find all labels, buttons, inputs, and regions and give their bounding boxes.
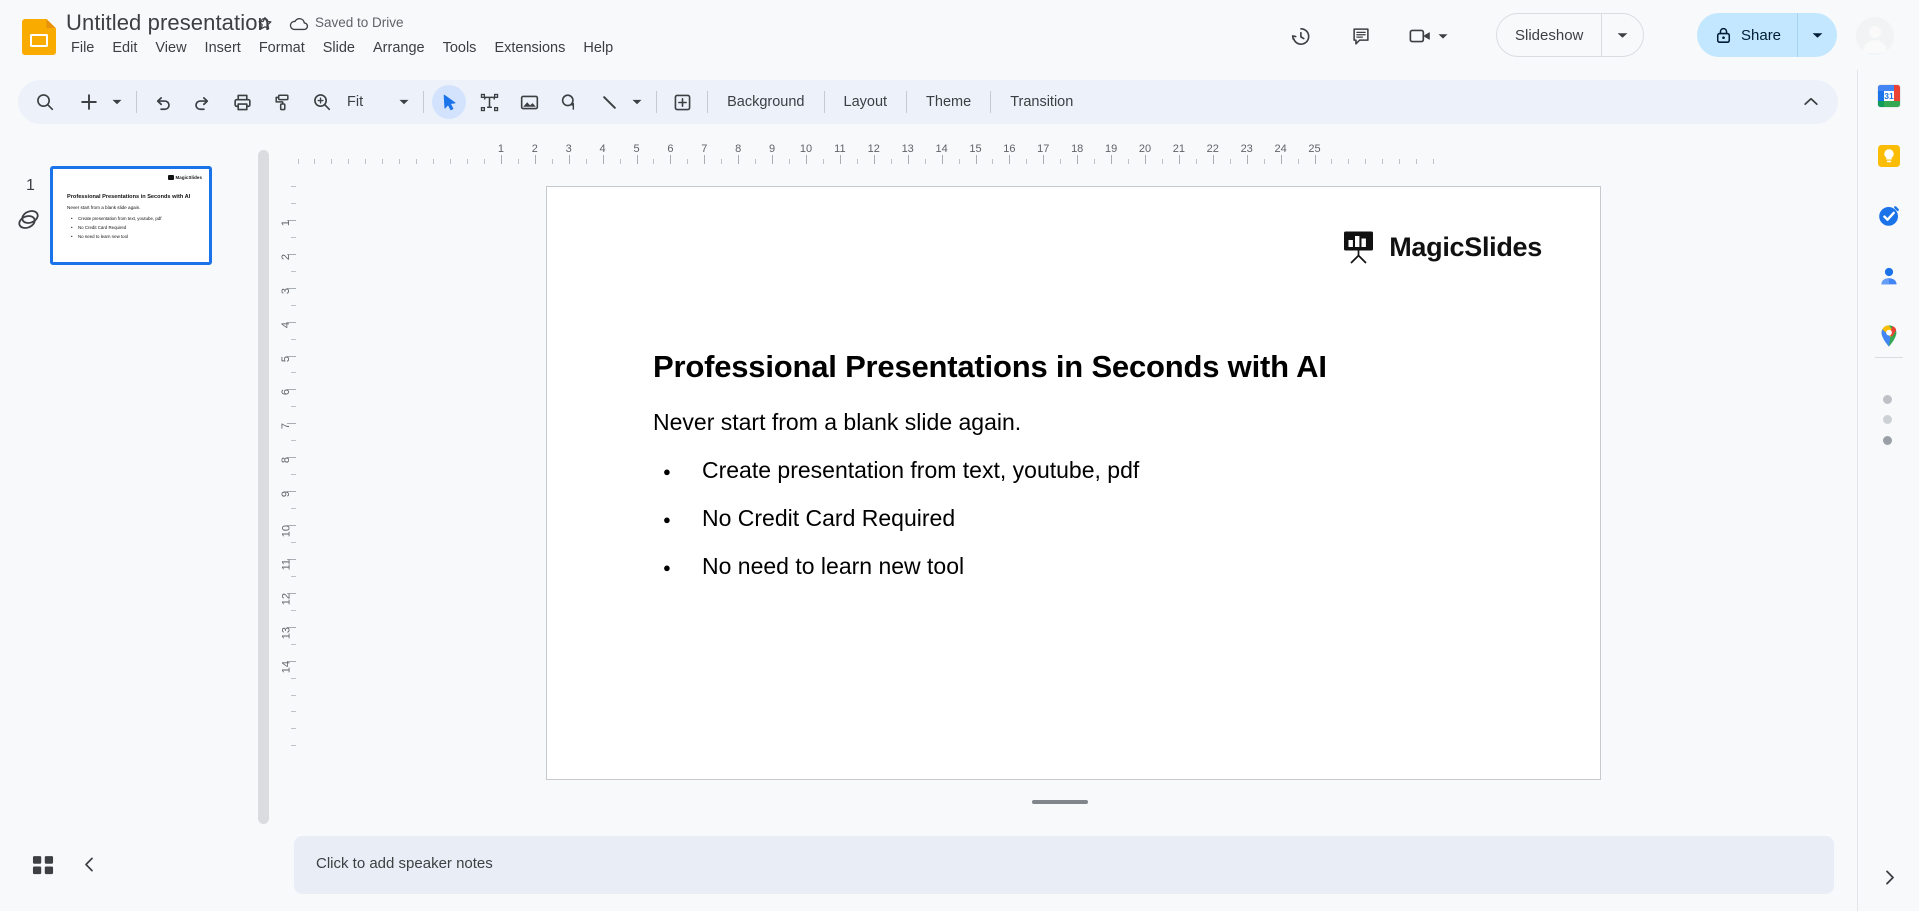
slideshow-button[interactable]: Slideshow [1497, 14, 1601, 56]
account-avatar[interactable] [1856, 17, 1894, 55]
menu-item-slide[interactable]: Slide [314, 37, 364, 59]
paint-format-icon [272, 92, 293, 113]
ruler-number: 14 [935, 143, 947, 155]
ruler-number: 13 [902, 143, 914, 155]
caret-down-icon [632, 99, 642, 105]
side-panel-item-maps[interactable] [1871, 318, 1907, 354]
slide-thumbnail-1[interactable]: MagicSlides Professional Presentations i… [50, 166, 212, 265]
ruler-number: 20 [1139, 143, 1151, 155]
ruler-number: 16 [1003, 143, 1015, 155]
grid-view-button[interactable] [28, 852, 58, 878]
ruler-number: 5 [633, 143, 639, 155]
select-tool-button[interactable] [432, 85, 466, 119]
ruler-tick [1281, 155, 1282, 164]
vertical-ruler[interactable]: 1234567891011121314 [272, 164, 296, 839]
ruler-number: 3 [566, 143, 572, 155]
toolbar-divider [824, 91, 825, 113]
zoom-level-label[interactable]: Fit [339, 88, 371, 116]
menu-item-arrange[interactable]: Arrange [364, 37, 434, 59]
toolbar-divider [906, 91, 907, 113]
ruler-number: 12 [868, 143, 880, 155]
horizontal-ruler[interactable]: 1234567891011121314151617181920212223242… [272, 140, 1832, 164]
ruler-number: 24 [1274, 143, 1286, 155]
ruler-number: 10 [800, 143, 812, 155]
ruler-number: 7 [280, 423, 292, 429]
toolbar-divider [990, 91, 991, 113]
ruler-number: 2 [532, 143, 538, 155]
ruler-number: 8 [280, 457, 292, 463]
ruler-number: 22 [1207, 143, 1219, 155]
transition-marker-icon[interactable] [14, 205, 42, 233]
redo-icon [192, 92, 213, 113]
ruler-tick [1145, 155, 1146, 164]
ruler-tick [535, 155, 536, 164]
ruler-tick [704, 155, 705, 164]
speaker-notes-placeholder: Click to add speaker notes [316, 855, 493, 872]
ruler-number: 25 [1308, 143, 1320, 155]
share-button[interactable]: Share [1697, 13, 1797, 57]
cursor-select-icon [440, 93, 459, 112]
ruler-number: 1 [498, 143, 504, 155]
ruler-tick [637, 155, 638, 164]
caret-down-icon [112, 99, 122, 105]
slide-canvas-area[interactable]: MagicSlides Professional Presentations i… [296, 164, 1836, 836]
ruler-tick [1213, 155, 1214, 164]
ruler-number: 19 [1105, 143, 1117, 155]
ruler-tick [806, 155, 807, 164]
ruler-tick [1247, 155, 1248, 164]
caret-down-icon [1812, 32, 1823, 39]
collapse-filmstrip-button[interactable] [76, 851, 102, 877]
image-icon [519, 92, 540, 113]
slide-editing-surface[interactable]: MagicSlides Professional Presentations i… [546, 186, 1601, 780]
top-bar: Untitled presentation Saved to Drive Fil… [0, 0, 1919, 70]
slide-bullet-item[interactable]: Create presentation from text, youtube, … [653, 457, 1139, 484]
line-dropdown-button[interactable] [626, 85, 648, 119]
thumbnail-bullet: Create presentation from text, youtube, … [71, 216, 161, 221]
ruler-number: 15 [969, 143, 981, 155]
zoom-dropdown-button[interactable] [393, 85, 415, 119]
side-panel-dot[interactable] [1883, 415, 1892, 424]
thumbnail-title: Professional Presentations in Seconds wi… [67, 194, 190, 200]
plus-icon [79, 92, 99, 112]
line-icon [599, 92, 620, 113]
shape-icon [559, 92, 580, 113]
ruler-number: 1 [280, 220, 292, 226]
ruler-tick [1315, 155, 1316, 164]
toolbar-divider [656, 91, 657, 113]
toolbar: Fit [18, 80, 1838, 124]
menu-item-file[interactable]: File [62, 37, 103, 59]
thumbnail-subtitle: Never start from a blank slide again. [67, 205, 141, 210]
ruler-tick [1111, 155, 1112, 164]
ruler-tick [942, 155, 943, 164]
insert-shape-button[interactable] [552, 85, 586, 119]
side-panel-item-calendar[interactable]: 31 [1871, 78, 1907, 114]
redo-button[interactable] [185, 85, 219, 119]
menu-item-format[interactable]: Format [250, 37, 314, 59]
ruler-tick [1179, 155, 1180, 164]
menu-item-edit[interactable]: Edit [103, 37, 146, 59]
video-camera-icon [1409, 27, 1433, 45]
ruler-tick [569, 155, 570, 164]
menu-item-view[interactable]: View [146, 37, 195, 59]
side-panel-divider [1875, 357, 1903, 358]
new-slide-dropdown-button[interactable] [106, 85, 128, 119]
caret-down-icon [399, 99, 409, 105]
slide-bullet-item[interactable]: No Credit Card Required [653, 505, 1139, 532]
side-panel-item-tasks[interactable] [1871, 198, 1907, 234]
slide-number-label: 1 [26, 177, 35, 195]
ruler-tick [1043, 155, 1044, 164]
speaker-notes-pane[interactable]: Click to add speaker notes [294, 836, 1834, 894]
thumbnail-bullet: No Credit Card Required [71, 225, 161, 230]
thumbnail-bullet-list: Create presentation from text, youtube, … [71, 216, 161, 244]
comment-icon [1350, 25, 1372, 47]
toolbar-divider [136, 91, 137, 113]
side-panel-dot[interactable] [1883, 395, 1892, 404]
ruler-number: 12 [280, 593, 292, 605]
filmstrip-scrollbar[interactable] [258, 150, 269, 824]
menu-item-help[interactable]: Help [574, 37, 622, 59]
menu-item-tools[interactable]: Tools [434, 37, 486, 59]
cloud-saved-icon[interactable] [288, 14, 310, 34]
google-slides-logo-icon[interactable] [22, 19, 56, 55]
slide-logo-text: MagicSlides [1389, 232, 1542, 263]
google-tasks-icon [1876, 203, 1902, 229]
notes-resize-handle[interactable] [1032, 800, 1088, 804]
thumbnail-bullet: No need to learn new tool [71, 234, 161, 239]
ruler-tick [738, 155, 739, 164]
text-box-icon [479, 92, 500, 113]
zoom-button[interactable] [305, 85, 339, 119]
chevron-up-icon [1801, 92, 1821, 112]
google-calendar-icon: 31 [1876, 83, 1902, 109]
google-contacts-icon [1876, 263, 1902, 289]
ruler-number: 17 [1037, 143, 1049, 155]
ruler-tick [976, 155, 977, 164]
share-label: Share [1741, 27, 1781, 44]
paint-format-button[interactable] [265, 85, 299, 119]
caret-down-icon [1438, 33, 1448, 40]
document-title[interactable]: Untitled presentation [66, 10, 270, 36]
ruler-number: 9 [769, 143, 775, 155]
search-icon [35, 92, 55, 112]
transition-button[interactable]: Transition [999, 88, 1084, 116]
menu-bar: File Edit View Insert Format Slide Arran… [62, 37, 622, 59]
ruler-number: 21 [1173, 143, 1185, 155]
add-comment-button[interactable] [665, 85, 699, 119]
insert-image-button[interactable] [512, 85, 546, 119]
zoom-icon [312, 92, 332, 112]
print-icon [232, 92, 253, 113]
ruler-number: 23 [1241, 143, 1253, 155]
google-keep-icon [1876, 143, 1902, 169]
toolbar-divider [707, 91, 708, 113]
ruler-corner [272, 140, 296, 164]
side-panel-item-contacts[interactable] [1871, 258, 1907, 294]
share-dropdown-button[interactable] [1797, 13, 1837, 57]
ruler-tick [1077, 155, 1078, 164]
thumbnail-logo: MagicSlides [168, 175, 202, 180]
version-history-icon [1289, 25, 1312, 48]
google-maps-icon [1876, 323, 1902, 349]
slide-bullet-item[interactable]: No need to learn new tool [653, 553, 1139, 580]
ruler-number: 11 [280, 559, 292, 570]
ruler-number: 4 [600, 143, 606, 155]
ruler-number: 2 [280, 254, 292, 260]
slide-bullet-list[interactable]: Create presentation from text, youtube, … [653, 457, 1139, 601]
undo-button[interactable] [145, 85, 179, 119]
thumbnail-logo-text: MagicSlides [176, 175, 202, 180]
ruler-number: 13 [280, 627, 292, 639]
ruler-tick [874, 155, 875, 164]
ruler-number: 10 [280, 525, 292, 537]
ruler-tick [603, 155, 604, 164]
search-button[interactable] [28, 85, 62, 119]
lock-icon [1715, 26, 1732, 44]
ruler-tick [670, 155, 671, 164]
side-panel-dot[interactable] [1883, 436, 1892, 445]
ruler-number: 7 [701, 143, 707, 155]
ruler-number: 5 [280, 356, 292, 362]
slide-logo: MagicSlides [1342, 229, 1542, 265]
ruler-number: 9 [280, 491, 292, 497]
ruler-number: 18 [1071, 143, 1083, 155]
collapse-toolbar-button[interactable] [1794, 85, 1828, 119]
ruler-number: 4 [280, 322, 292, 328]
slideshow-dropdown-button[interactable] [1601, 14, 1643, 56]
text-box-button[interactable] [472, 85, 506, 119]
ruler-number: 6 [280, 389, 292, 395]
undo-icon [152, 92, 173, 113]
ruler-number: 6 [667, 143, 673, 155]
slide-title-text[interactable]: Professional Presentations in Seconds wi… [653, 349, 1327, 385]
star-icon[interactable] [255, 14, 275, 34]
menu-item-extensions[interactable]: Extensions [485, 37, 574, 59]
magicslides-easel-icon [168, 175, 174, 180]
ruler-number: 3 [280, 288, 292, 294]
ruler-number: 14 [280, 661, 292, 673]
layout-button[interactable]: Layout [833, 88, 899, 116]
ruler-tick [772, 155, 773, 164]
meet-button[interactable] [1404, 18, 1452, 54]
toolbar-divider [423, 91, 424, 113]
caret-down-icon [1617, 32, 1628, 39]
chevron-right-icon [1882, 869, 1897, 886]
menu-item-insert[interactable]: Insert [196, 37, 250, 59]
ruler-tick [501, 155, 502, 164]
add-comment-icon [672, 92, 693, 113]
new-slide-button[interactable] [72, 85, 106, 119]
save-status-label: Saved to Drive [315, 15, 404, 30]
side-panel-item-keep[interactable] [1871, 138, 1907, 174]
print-button[interactable] [225, 85, 259, 119]
ruler-number: 11 [834, 143, 845, 155]
chevron-left-icon [82, 856, 97, 873]
calendar-day-number: 31 [1884, 91, 1894, 101]
google-apps-side-panel: 31 [1857, 70, 1919, 911]
ruler-tick [840, 155, 841, 164]
share-button-group: Share [1697, 13, 1837, 57]
insert-line-button[interactable] [592, 85, 626, 119]
expand-side-panel-button[interactable] [1872, 860, 1906, 894]
ruler-tick [908, 155, 909, 164]
version-history-button[interactable] [1282, 18, 1318, 54]
slide-subtitle-text[interactable]: Never start from a blank slide again. [653, 409, 1021, 436]
ruler-number: 8 [735, 143, 741, 155]
magicslides-easel-icon [1342, 229, 1378, 265]
theme-button[interactable]: Theme [915, 88, 982, 116]
comment-button[interactable] [1343, 18, 1379, 54]
slideshow-button-group: Slideshow [1496, 13, 1644, 57]
slide-filmstrip-panel: 1 MagicSlides Professional Presentations… [0, 135, 268, 835]
background-button[interactable]: Background [716, 88, 815, 116]
ruler-tick [1009, 155, 1010, 164]
